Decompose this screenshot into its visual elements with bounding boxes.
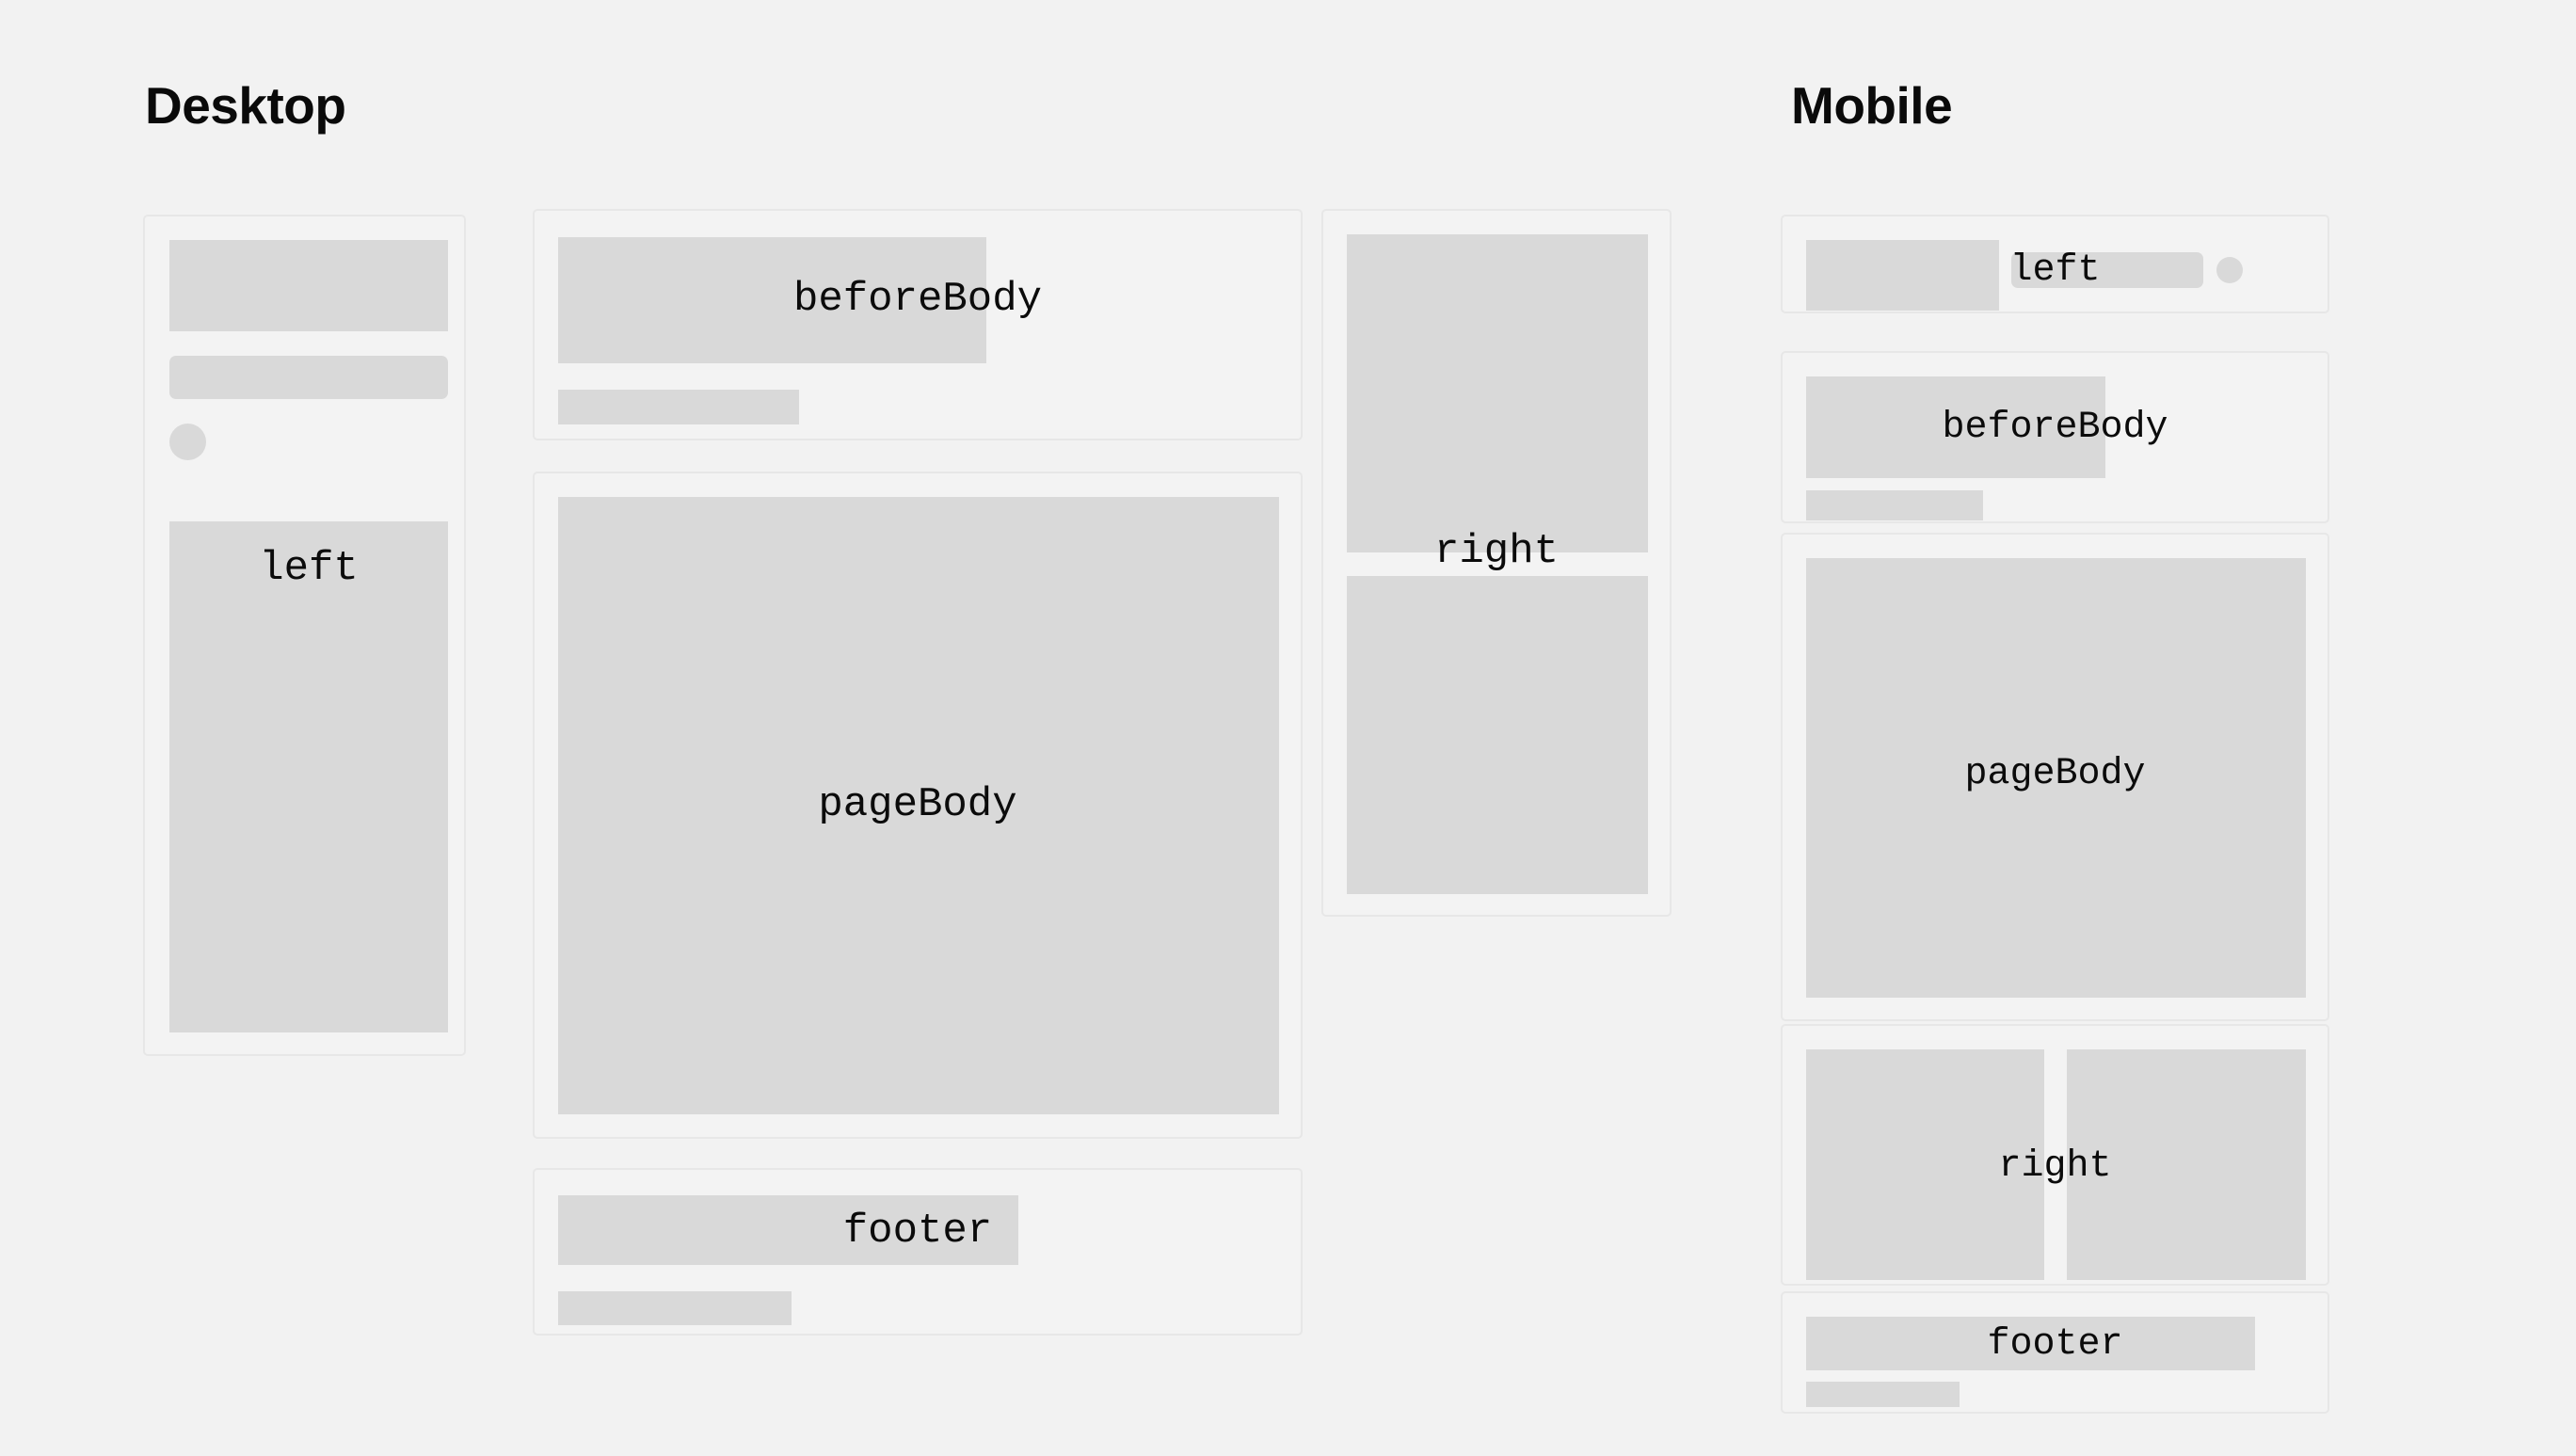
desktop-before-body-wide-block: [558, 237, 986, 363]
mobile-footer-short-bar: [1806, 1382, 1960, 1407]
desktop-left-header-block: [169, 240, 448, 331]
mobile-page-body-panel[interactable]: pageBody: [1781, 533, 2329, 1021]
desktop-footer-short-bar: [558, 1291, 792, 1325]
mobile-before-body-short-bar: [1806, 490, 1983, 520]
mobile-before-body-wide-block: [1806, 376, 2105, 478]
desktop-before-body-short-bar: [558, 390, 799, 424]
mobile-left-panel[interactable]: left: [1781, 215, 2329, 313]
desktop-right-panel[interactable]: right: [1321, 209, 1672, 917]
mobile-right-right-column-block: [2067, 1049, 2306, 1280]
mobile-left-square-block: [1806, 240, 1999, 311]
desktop-left-panel[interactable]: left: [143, 215, 466, 1056]
layout-preview-canvas: Desktop left beforeBody pageBody right f…: [0, 0, 2576, 1456]
desktop-page-body-panel[interactable]: pageBody: [533, 472, 1303, 1139]
mobile-before-body-panel[interactable]: beforeBody: [1781, 351, 2329, 523]
desktop-footer-wide-block: [558, 1195, 1018, 1265]
desktop-right-lower-block: [1347, 576, 1648, 894]
desktop-heading: Desktop: [145, 80, 346, 132]
mobile-right-left-column-block: [1806, 1049, 2044, 1280]
mobile-left-avatar-circle[interactable]: [2216, 257, 2243, 283]
desktop-left-tall-content-block: [169, 521, 448, 1032]
mobile-page-body-large-block: [1806, 558, 2306, 998]
desktop-right-upper-block: [1347, 234, 1648, 552]
desktop-left-rounded-bar[interactable]: [169, 356, 448, 399]
mobile-footer-panel[interactable]: footer: [1781, 1291, 2329, 1414]
desktop-footer-panel[interactable]: footer: [533, 1168, 1303, 1336]
mobile-footer-wide-block: [1806, 1317, 2255, 1370]
desktop-left-avatar-circle[interactable]: [169, 424, 206, 460]
desktop-before-body-panel[interactable]: beforeBody: [533, 209, 1303, 440]
desktop-page-body-large-block: [558, 497, 1279, 1114]
mobile-heading: Mobile: [1791, 80, 1952, 132]
mobile-left-rounded-bar[interactable]: [2011, 252, 2203, 288]
mobile-right-panel[interactable]: right: [1781, 1024, 2329, 1286]
